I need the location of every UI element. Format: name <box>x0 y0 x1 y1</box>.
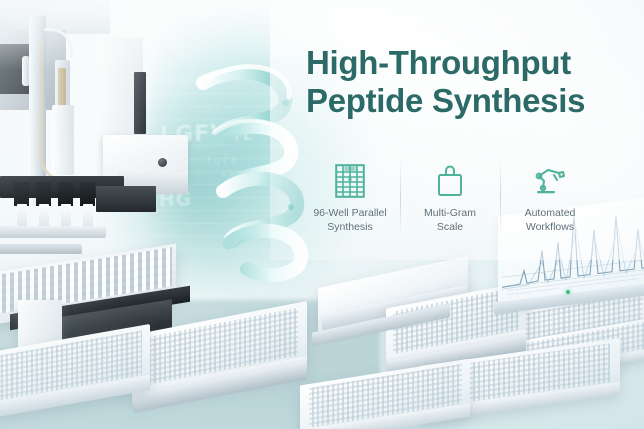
feature-item-label: Automated Workflows <box>525 206 576 234</box>
hero-text-block: High-Throughput Peptide Synthesis <box>306 44 626 121</box>
feature-item-automated-workflows: Automated Workflows <box>500 163 600 234</box>
title-line-1: High-Throughput <box>306 44 571 81</box>
feature-label-line-2: Synthesis <box>327 221 373 233</box>
title-line-2: Peptide Synthesis <box>306 82 626 120</box>
feature-label-line-1: Multi-Gram <box>424 207 476 219</box>
feature-item-96-well-parallel-synthesis: 96-Well Parallel Synthesis <box>300 163 400 234</box>
feature-list: 96-Well Parallel Synthesis Multi-Gram Sc… <box>300 163 600 234</box>
microplate-grid-icon <box>335 163 365 199</box>
reagent-bag-icon <box>435 163 465 199</box>
feature-label-line-1: 96-Well Parallel <box>313 207 386 219</box>
hero-banner: LGFV TTL SHG ACGT TGCA GAC TTC AGG ATG C… <box>0 0 644 429</box>
feature-label-line-1: Automated <box>525 207 576 219</box>
page-title: High-Throughput Peptide Synthesis <box>306 44 626 121</box>
feature-item-label: 96-Well Parallel Synthesis <box>313 206 386 234</box>
feature-item-label: Multi-Gram Scale <box>424 206 476 234</box>
feature-item-multi-gram-scale: Multi-Gram Scale <box>400 163 500 234</box>
feature-label-line-2: Workflows <box>526 221 574 233</box>
robot-arm-icon <box>533 163 567 199</box>
feature-label-line-2: Scale <box>437 221 463 233</box>
